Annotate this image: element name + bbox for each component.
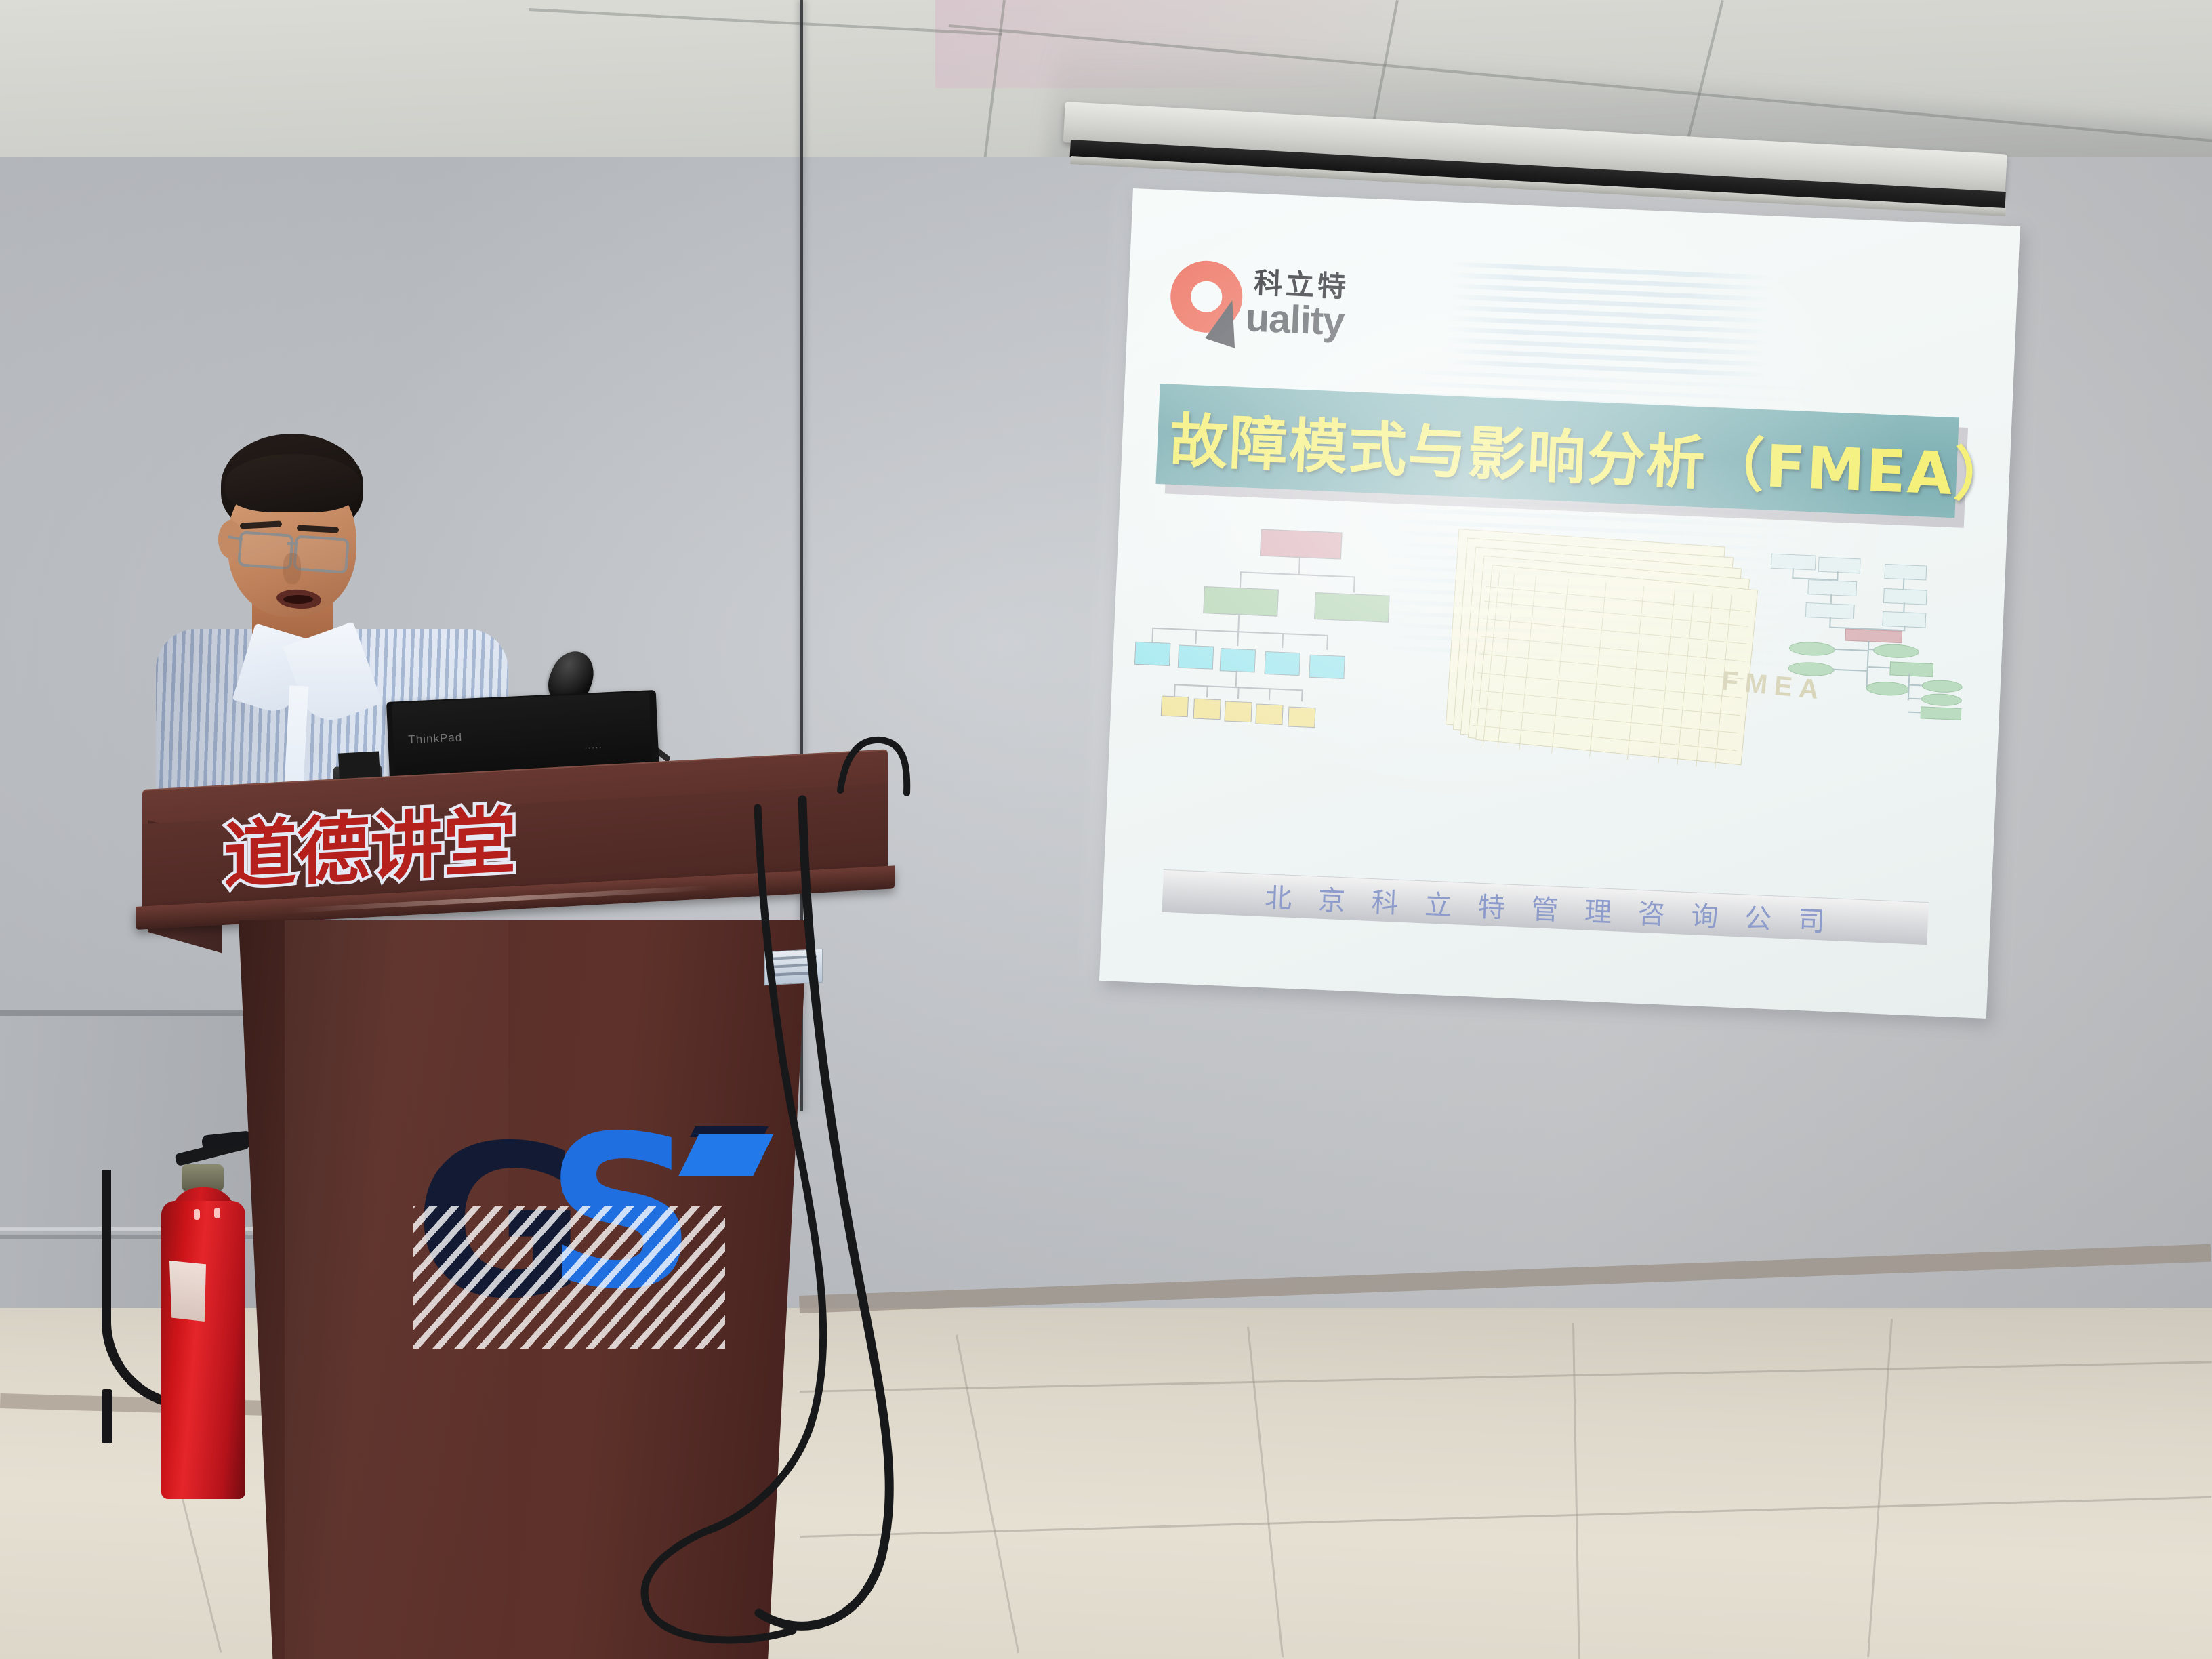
presentation-slide: 科立特 uality 故障模式与影响分析（FMEA） xyxy=(1099,188,2020,1019)
presenter-nose xyxy=(283,553,301,584)
presenter-hair-front xyxy=(225,454,361,512)
gs-logo-stripes xyxy=(413,1206,725,1349)
fire-extinguisher xyxy=(161,1201,245,1499)
laptop-hinge xyxy=(338,751,380,780)
laptop-secondary-logo: ····· xyxy=(584,742,602,753)
slide-watermark-text xyxy=(1444,262,1774,390)
extinguisher-highlight xyxy=(214,1208,220,1218)
podium-inventory-sticker xyxy=(764,949,823,986)
fault-tree-flowchart xyxy=(1760,554,1992,766)
extinguisher-hose-nozzle xyxy=(102,1389,112,1443)
photo-scene: 科立特 uality 故障模式与影响分析（FMEA） xyxy=(0,0,2212,1659)
glasses-bridge-icon xyxy=(287,542,297,545)
slide-footer-text: 北 京 科 立 特 管 理 咨 询 公 司 xyxy=(1173,874,1926,941)
presenter-mouth-interior xyxy=(283,595,313,604)
gs-brand-logo: G S xyxy=(413,1118,752,1342)
logo-wordmark: uality xyxy=(1245,295,1345,344)
extinguisher-label xyxy=(169,1261,206,1322)
glasses-lens-right-icon xyxy=(293,535,349,573)
roller-brand-label xyxy=(1089,115,1130,128)
extinguisher-highlight xyxy=(194,1209,200,1220)
hierarchy-tree-diagram xyxy=(1151,525,1430,733)
slide-graphics-row: FMEA xyxy=(1107,514,2007,836)
laptop-brand-logo: ThinkPad xyxy=(408,731,463,747)
projection-screen: 科立特 uality 故障模式与影响分析（FMEA） xyxy=(1099,188,2020,1019)
fmea-form-stack: FMEA xyxy=(1448,532,1740,747)
quality-logo: 科立特 uality xyxy=(1168,255,1403,357)
